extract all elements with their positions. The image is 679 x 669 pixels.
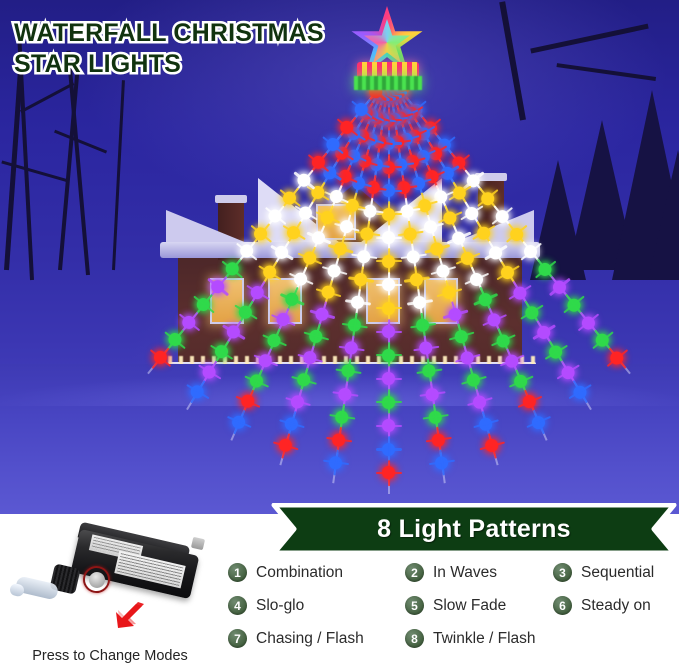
pattern-item-3[interactable]: 3Sequential xyxy=(553,563,654,582)
window-upper-center xyxy=(316,204,356,240)
pattern-row: 4Slo-glo5Slow Fade6Steady on xyxy=(228,596,679,629)
pattern-item-1[interactable]: 1Combination xyxy=(228,563,343,582)
pattern-item-8[interactable]: 8Twinkle / Flash xyxy=(405,629,536,648)
window-upper-right xyxy=(424,278,458,324)
controller-plug xyxy=(191,537,205,550)
led-bulb xyxy=(550,278,568,296)
pattern-item-5[interactable]: 5Slow Fade xyxy=(405,596,506,615)
title-line-1: WATERFALL CHRISTMAS xyxy=(14,18,354,49)
snow-mound xyxy=(0,346,679,406)
pattern-number-badge: 4 xyxy=(228,596,247,615)
pattern-label: Steady on xyxy=(581,597,651,615)
pattern-number-badge: 7 xyxy=(228,629,247,648)
pattern-label: Twinkle / Flash xyxy=(433,630,536,648)
banner: 8 Light Patterns xyxy=(268,503,679,555)
pattern-number-badge: 8 xyxy=(405,629,424,648)
snow-ground xyxy=(0,364,679,514)
pattern-label: Slow Fade xyxy=(433,597,506,615)
pattern-item-6[interactable]: 6Steady on xyxy=(553,596,651,615)
pattern-item-2[interactable]: 2In Waves xyxy=(405,563,497,582)
window-upper-midright xyxy=(366,278,400,324)
pattern-number-badge: 1 xyxy=(228,563,247,582)
hero-photo: WATERFALL CHRISTMAS STAR LIGHTS xyxy=(0,0,679,514)
evergreen-tree xyxy=(648,150,679,280)
pattern-label: In Waves xyxy=(433,564,497,582)
pattern-item-4[interactable]: 4Slo-glo xyxy=(228,596,304,615)
pattern-label: Slo-glo xyxy=(256,597,304,615)
pattern-number-badge: 2 xyxy=(405,563,424,582)
product-image: WATERFALL CHRISTMAS STAR LIGHTS 8 Light … xyxy=(0,0,679,669)
pattern-number-badge: 6 xyxy=(553,596,572,615)
led-bulb xyxy=(579,314,597,332)
controller-caption: Press to Change Modes xyxy=(0,648,220,664)
pattern-label: Combination xyxy=(256,564,343,582)
led-bulb xyxy=(565,296,583,314)
banner-label: 8 Light Patterns xyxy=(268,503,679,555)
star-crown-fringe xyxy=(354,76,422,90)
pattern-number-badge: 5 xyxy=(405,596,424,615)
star-topper xyxy=(340,6,436,90)
red-arrow-icon xyxy=(104,602,148,646)
pattern-item-7[interactable]: 7Chasing / Flash xyxy=(228,629,364,648)
pattern-row: 1Combination2In Waves3Sequential xyxy=(228,563,679,596)
window-upper-midleft xyxy=(268,278,302,324)
roof-ridge-snow xyxy=(160,242,540,258)
pattern-label: Chasing / Flash xyxy=(256,630,364,648)
pattern-number-badge: 3 xyxy=(553,563,572,582)
page-title: WATERFALL CHRISTMAS STAR LIGHTS xyxy=(14,18,354,80)
controller-device xyxy=(8,528,208,628)
light-patterns-list: 1Combination2In Waves3Sequential4Slo-glo… xyxy=(228,563,679,663)
pattern-row: 7Chasing / Flash8Twinkle / Flash xyxy=(228,629,679,662)
title-line-2: STAR LIGHTS xyxy=(14,49,354,80)
window-upper-left xyxy=(210,278,244,324)
pattern-label: Sequential xyxy=(581,564,654,582)
